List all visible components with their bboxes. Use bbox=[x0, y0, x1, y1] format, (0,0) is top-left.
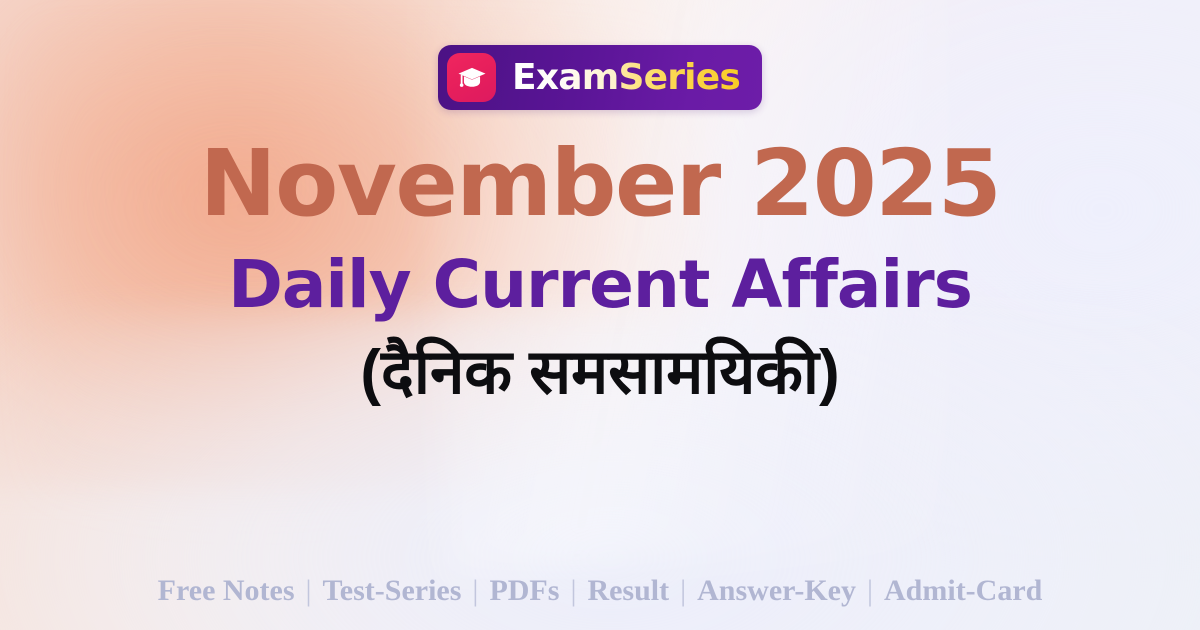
brand-wordmark: ExamSeries bbox=[512, 60, 740, 96]
brand-name-series: Series bbox=[618, 60, 739, 96]
hero-month-heading: November 2025 bbox=[200, 138, 1001, 230]
promo-banner: ExamSeries November 2025 Daily Current A… bbox=[0, 0, 1200, 630]
hero-subtitle-hindi: (दैनिक समसामयिकी) bbox=[360, 340, 839, 406]
hero-title-heading: Daily Current Affairs bbox=[228, 252, 972, 318]
brand-name-exam: Exam bbox=[512, 60, 618, 96]
banner-content: ExamSeries November 2025 Daily Current A… bbox=[0, 0, 1200, 630]
graduation-cap-icon bbox=[447, 53, 496, 102]
brand-logo-badge[interactable]: ExamSeries bbox=[438, 45, 762, 110]
